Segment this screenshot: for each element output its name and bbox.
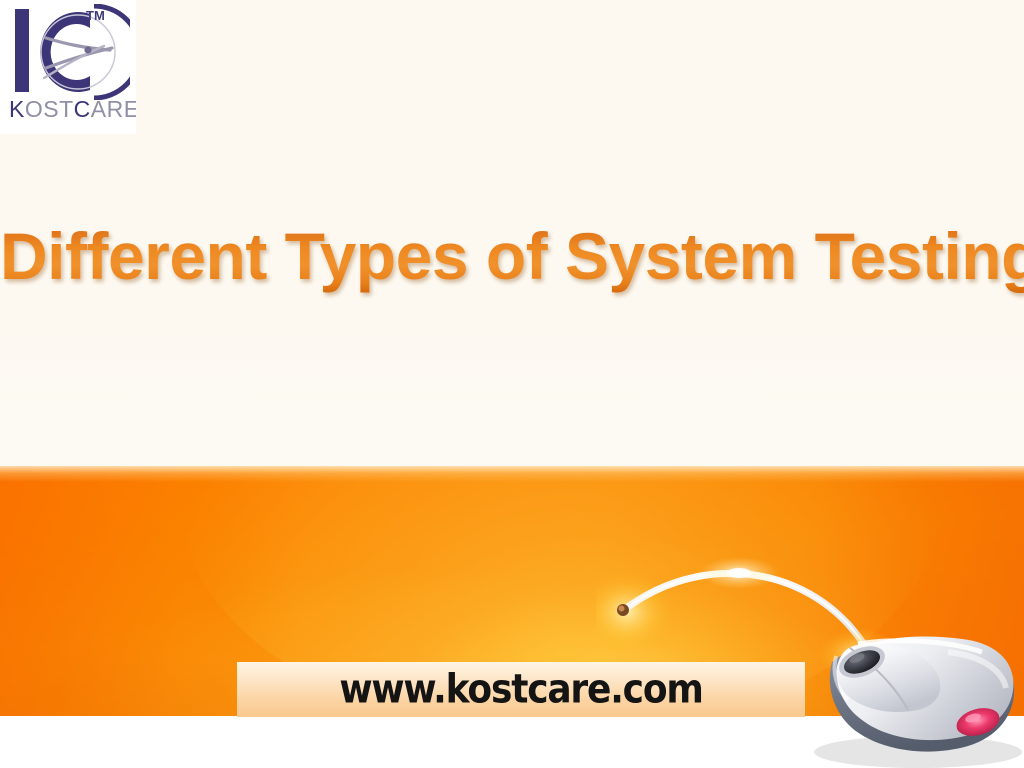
wordmark-c: C <box>74 96 91 122</box>
wordmark-k: K <box>9 96 25 122</box>
kostcare-wordmark: KOSTCARE <box>9 96 136 123</box>
trademark-symbol: TM <box>86 8 105 23</box>
wordmark-ost: OST <box>25 96 74 122</box>
slide-title: Different Types of System Testing <box>0 216 1024 296</box>
kostcare-logo-mark-icon <box>6 4 130 100</box>
computer-mouse-icon <box>596 552 1024 768</box>
computer-mouse-graphic <box>596 552 1024 768</box>
kostcare-logo: TM KOSTCARE <box>0 0 136 134</box>
banner-top-sheen <box>0 466 1024 482</box>
slide-canvas: TM KOSTCARE Different Types of System Te… <box>0 0 1024 768</box>
wordmark-are: ARE <box>91 96 136 122</box>
